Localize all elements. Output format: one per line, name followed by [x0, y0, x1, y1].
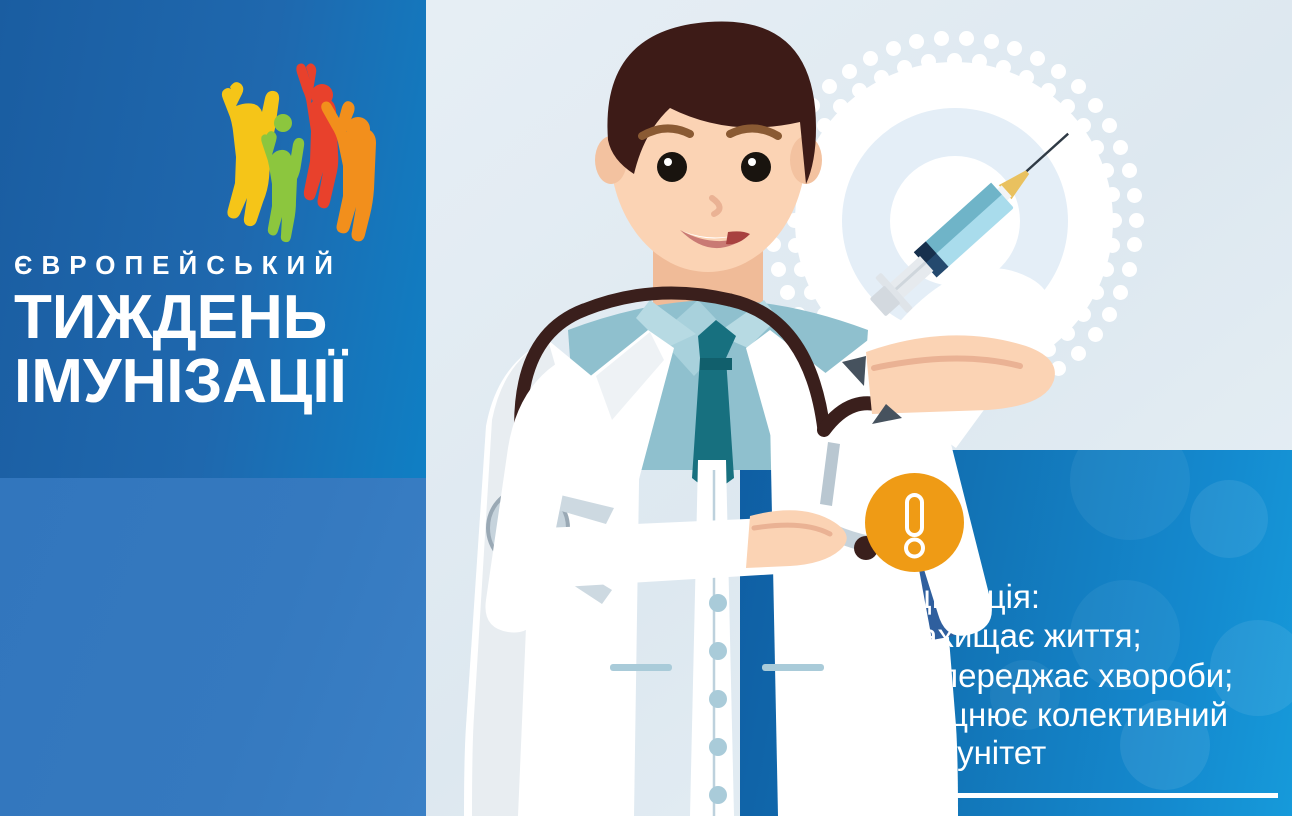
ring-dot — [1089, 140, 1104, 155]
page-title: ТИЖДЕНЬ ІМУНІЗАЦІЇ — [14, 288, 414, 412]
bullets-heading: Вакцинація: — [858, 578, 1278, 616]
title-block: ЄВРОПЕЙСЬКИЙ ТИЖДЕНЬ ІМУНІЗАЦІЇ — [14, 252, 414, 412]
ring-dot — [1099, 163, 1114, 178]
ring-dot — [1122, 262, 1137, 277]
ring-dot — [1099, 262, 1114, 277]
benefits-list: захищає життя;попереджає хвороби;зміцнює… — [858, 617, 1278, 772]
bubble-decor — [1070, 450, 1190, 540]
ring-dot — [1102, 307, 1117, 322]
list-item: зміцнює колективний іммунітет — [858, 696, 1278, 773]
list-item: захищає життя; — [858, 617, 1278, 655]
left-lower-panel — [0, 478, 426, 816]
ring-dot — [1089, 285, 1104, 300]
exclamation-mark-icon — [865, 473, 964, 572]
ring-dot — [1105, 187, 1120, 202]
bottom-divider — [858, 793, 1278, 798]
ring-dot — [1113, 140, 1128, 155]
title-line-1: ТИЖДЕНЬ — [14, 283, 327, 352]
list-item: попереджає хвороби; — [858, 657, 1278, 695]
ring-dot — [1107, 213, 1122, 228]
message-text-block: Вакцинація: захищає життя;попереджає хво… — [858, 578, 1278, 772]
poster-canvas: ЄВРОПЕЙСЬКИЙ ТИЖДЕНЬ ІМУНІЗАЦІЇ — [0, 0, 1292, 816]
title-line-2: ІМУНІЗАЦІЇ — [14, 352, 414, 412]
ring-dot — [1105, 238, 1120, 253]
figure-red — [296, 63, 338, 208]
ring-dot — [1127, 188, 1142, 203]
ring-dot — [1122, 163, 1137, 178]
ring-dot — [1113, 285, 1128, 300]
title-kicker: ЄВРОПЕЙСЬКИЙ — [14, 252, 414, 278]
ring-dot — [1129, 213, 1144, 228]
eiw-logo — [200, 55, 390, 255]
bubble-decor — [1190, 480, 1268, 558]
ring-dot — [1102, 118, 1117, 133]
ring-dot — [1127, 237, 1142, 252]
